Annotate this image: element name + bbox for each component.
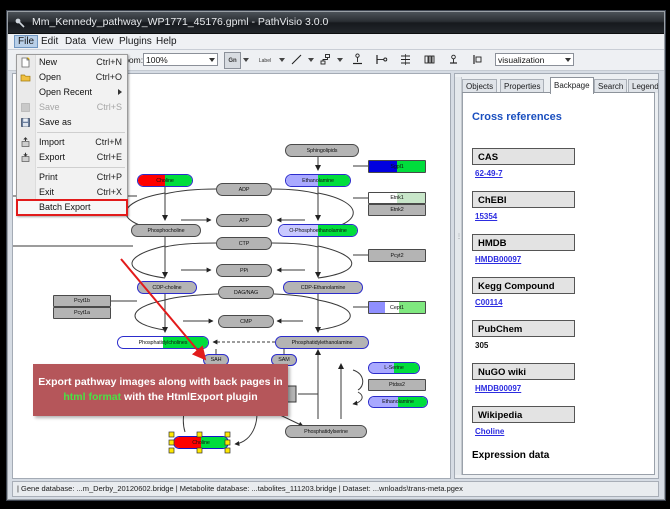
node-cdp-ethanolamine[interactable]: CDP-Ethanolamine: [283, 281, 363, 294]
menu-item-save: Save Ctrl+S: [17, 100, 127, 115]
callout-annotation: Export pathway images along with back pa…: [33, 364, 288, 416]
expr-left: [369, 302, 385, 313]
gene-ptdss2[interactable]: Ptdss2: [368, 379, 426, 391]
tab-properties[interactable]: Properties: [500, 79, 544, 93]
gene-cept1[interactable]: Cept1: [368, 301, 426, 314]
menu-item-exit-label: Exit: [39, 185, 54, 200]
node-choline-top[interactable]: Choline: [137, 174, 193, 187]
menu-bar: File Edit Data View Plugins Help: [8, 34, 664, 50]
interaction-icon: [319, 53, 332, 66]
xref-value-nugo-wiki[interactable]: HMDB00097: [475, 384, 521, 393]
gene-etnk1[interactable]: Etnk1: [368, 192, 426, 204]
node-atp[interactable]: ATP: [216, 214, 272, 227]
tab-backpage[interactable]: Backpage: [550, 77, 594, 94]
xref-label-nugo-wiki: NuGO wiki: [472, 363, 575, 380]
sidebar-tab-strip: Objects Properties Backpage Search Legen…: [462, 77, 658, 93]
menu-item-save-as[interactable]: Save as: [17, 115, 127, 130]
menu-item-open-recent-label: Open Recent: [39, 85, 92, 100]
node-phosphocholine[interactable]: Phosphocholine: [131, 224, 201, 237]
xref-value-wikipedia[interactable]: Choline: [475, 427, 504, 436]
xref-value-chebi[interactable]: 15354: [475, 212, 497, 221]
node-ethanolamine-top[interactable]: Ethanolamine: [285, 174, 351, 187]
menu-item-import-label: Import: [39, 135, 65, 150]
file-menu-popup: New Ctrl+N Open Ctrl+O Open Recent Save …: [16, 54, 128, 216]
menu-item-open[interactable]: Open Ctrl+O: [17, 70, 127, 85]
order-button[interactable]: [470, 52, 487, 69]
pathvisio-icon: [14, 17, 26, 29]
status-bar: | Gene database: ...m_Derby_20120602.bri…: [12, 481, 659, 497]
group-button[interactable]: [446, 52, 463, 69]
callout-text-after: with the HtmlExport plugin: [121, 391, 258, 403]
menu-item-print-label: Print: [39, 170, 58, 185]
folder-open-icon: [20, 72, 31, 83]
node-phosphatidylserine[interactable]: Phosphatidylserine: [285, 425, 367, 438]
menu-edit[interactable]: Edit: [37, 35, 62, 48]
gene-etnk2[interactable]: Etnk2: [368, 204, 426, 216]
cross-references-heading: Cross references: [472, 111, 562, 123]
backpage-panel: Cross references CAS 62-49-7 ChEBI 15354…: [462, 93, 655, 475]
line-chevron-icon[interactable]: [308, 58, 314, 62]
xref-value-cas[interactable]: 62-49-7: [475, 169, 503, 178]
menu-item-save-accel: Ctrl+S: [97, 100, 122, 115]
submenu-arrow-icon: [118, 89, 122, 95]
menu-item-batch-export-label: Batch Export: [39, 200, 91, 215]
panel-splitter[interactable]: ⋮: [455, 77, 462, 475]
menu-item-exit[interactable]: Exit Ctrl+X: [17, 185, 127, 200]
xref-label-hmdb: HMDB: [472, 234, 575, 251]
save-icon: [20, 102, 31, 113]
menu-item-export-accel: Ctrl+E: [97, 150, 122, 165]
screenshot-root: Mm_Kennedy_pathway_WP1771_45176.gpml - P…: [0, 0, 670, 509]
xref-label-pubchem: PubChem: [472, 320, 575, 337]
new-document-icon: [20, 57, 31, 68]
window-title: Mm_Kennedy_pathway_WP1771_45176.gpml - P…: [32, 16, 328, 28]
menu-item-batch-export[interactable]: Batch Export: [17, 200, 127, 215]
callout-text-before: Export pathway images along with back pa…: [38, 376, 282, 388]
visualization-combo[interactable]: visualization: [495, 53, 574, 66]
menu-item-new-label: New: [39, 55, 57, 70]
gene-pcyt1a[interactable]: Pcyt1a: [53, 307, 111, 319]
xref-value-pubchem: 305: [475, 341, 488, 350]
menu-view[interactable]: View: [88, 35, 118, 48]
distribute-icon: [423, 53, 436, 66]
xref-value-kegg-compound[interactable]: C00114: [475, 298, 503, 307]
application-window: Mm_Kennedy_pathway_WP1771_45176.gpml - P…: [7, 11, 665, 500]
node-l-serine[interactable]: L-Serine: [368, 362, 420, 374]
menu-item-open-accel: Ctrl+O: [96, 70, 122, 85]
menu-data[interactable]: Data: [61, 35, 90, 48]
node-ctp[interactable]: CTP: [216, 237, 272, 250]
chevron-down-icon: [209, 58, 215, 62]
gene-pcyt2[interactable]: Pcyt2: [368, 249, 426, 262]
group-icon: [447, 53, 460, 66]
menu-item-new[interactable]: New Ctrl+N: [17, 55, 127, 70]
node-adp[interactable]: ADP: [216, 183, 272, 196]
xref-label-chebi: ChEBI: [472, 191, 575, 208]
menu-item-export[interactable]: Export Ctrl+E: [17, 150, 127, 165]
callout-arrow: [113, 254, 253, 374]
stack-icon: [399, 53, 412, 66]
chevron-down-icon: [565, 58, 571, 62]
node-phosphatidylethanolamine[interactable]: Phosphatidylethanolamine: [275, 336, 369, 349]
menu-help[interactable]: Help: [152, 35, 181, 48]
align-top-button[interactable]: [350, 52, 367, 69]
side-panel: ⋮ Objects Properties Backpage Search Leg…: [454, 73, 659, 479]
label-chevron-icon[interactable]: [279, 58, 285, 62]
tab-search[interactable]: Search: [594, 79, 627, 93]
xref-label-kegg-compound: Kegg Compound: [472, 277, 575, 294]
xref-value-hmdb[interactable]: HMDB00097: [475, 255, 521, 264]
align-left-icon: [375, 53, 388, 66]
menu-item-import-accel: Ctrl+M: [95, 135, 122, 150]
menu-item-save-label: Save: [39, 100, 60, 115]
expression-data-heading: Expression data: [472, 450, 549, 461]
datanode-tool-button[interactable]: Gn: [224, 52, 241, 69]
node-o-phosphoethanolamine[interactable]: O-Phosphoethanolamine: [278, 224, 358, 237]
menu-item-import[interactable]: Import Ctrl+M: [17, 135, 127, 150]
menu-plugins[interactable]: Plugins: [115, 35, 156, 48]
interaction-tool-button[interactable]: [318, 52, 335, 69]
datanode-chevron-icon[interactable]: [243, 58, 249, 62]
align-left-button[interactable]: [374, 52, 391, 69]
menu-file[interactable]: File: [14, 35, 38, 48]
title-bar: Mm_Kennedy_pathway_WP1771_45176.gpml - P…: [8, 12, 664, 34]
distribute-button[interactable]: [422, 52, 439, 69]
menu-item-exit-accel: Ctrl+X: [97, 185, 122, 200]
menu-item-open-label: Open: [39, 70, 61, 85]
tab-legend[interactable]: Legend: [628, 79, 659, 93]
menu-separator: [37, 167, 125, 168]
menu-item-open-recent[interactable]: Open Recent: [17, 85, 127, 100]
visualization-value: visualization: [498, 55, 544, 65]
import-icon: [20, 137, 31, 148]
zoom-combo[interactable]: 100%: [143, 53, 218, 66]
xref-label-wikipedia: Wikipedia: [472, 406, 575, 423]
node-sphingolipids[interactable]: Sphingolipids: [285, 144, 359, 157]
line-tool-button[interactable]: [289, 52, 306, 69]
gene-sgpl1[interactable]: Sgpl1: [368, 160, 426, 173]
align-top-icon: [351, 53, 364, 66]
tab-objects[interactable]: Objects: [462, 79, 497, 93]
node-ethanolamine-low[interactable]: Ethanolamine: [368, 396, 428, 408]
line-icon: [290, 53, 303, 66]
menu-item-new-accel: Ctrl+N: [96, 55, 122, 70]
menu-item-export-label: Export: [39, 150, 65, 165]
menu-item-print[interactable]: Print Ctrl+P: [17, 170, 127, 185]
interaction-chevron-icon[interactable]: [337, 58, 343, 62]
stack-button[interactable]: [398, 52, 415, 69]
order-icon: [471, 53, 484, 66]
menu-separator: [37, 132, 125, 133]
gene-pcyt1b[interactable]: Pcyt1b: [53, 295, 111, 307]
export-icon: [20, 152, 31, 163]
save-as-icon: [20, 117, 31, 128]
callout-text: Export pathway images along with back pa…: [37, 375, 284, 405]
menu-item-save-as-label: Save as: [39, 115, 72, 130]
menu-item-print-accel: Ctrl+P: [97, 170, 122, 185]
label-tool-button[interactable]: Label: [253, 52, 277, 69]
xref-label-cas: CAS: [472, 148, 575, 165]
zoom-value: 100%: [146, 55, 168, 65]
callout-highlight: html format: [63, 391, 121, 403]
